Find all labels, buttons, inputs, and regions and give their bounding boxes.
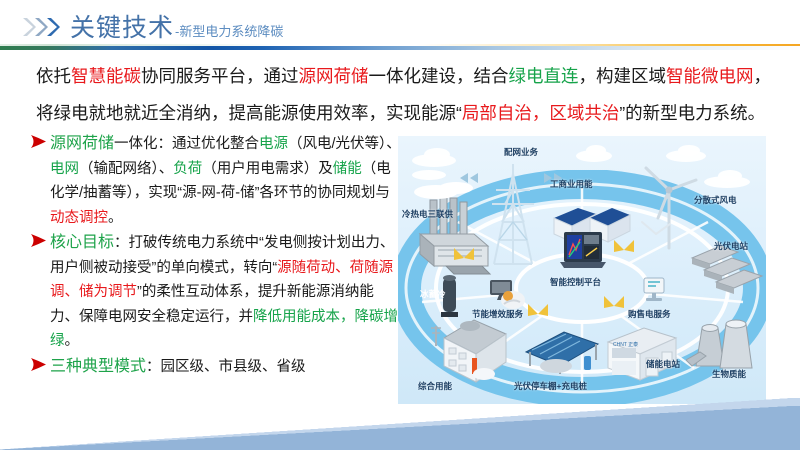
intro-paragraph: 依托智慧能碳协同服务平台，通过源网荷储一体化建设，结合绿电直连，构建区域智能微电… [36, 58, 776, 132]
bullet-heading: 源网荷储 [50, 135, 114, 152]
label-cchp-trigeneration: 冷热电三联供 [402, 208, 453, 220]
text-segment: 协同服务平台，通过 [141, 66, 299, 86]
text-segment: 一体化建设，结合 [369, 66, 509, 86]
label-energy-storage-station: 储能电站 [646, 358, 680, 370]
list-item: 三种典型模式：园区级、市县级、省级 [30, 355, 402, 380]
text-segment: 依托 [36, 66, 71, 86]
bullet-heading: 核心目标 [50, 234, 114, 251]
text-segment: ”的新型电力系统。 [619, 103, 765, 123]
text-segment: 。 [65, 333, 80, 349]
red-arrow-icon [30, 357, 47, 372]
text-segment: ，构建区域 [579, 66, 667, 86]
wireless-signal-icon [612, 236, 636, 256]
smart-control-platform-icon [558, 230, 608, 274]
intro-line-1: 依托智慧能碳协同服务平台，通过源网荷储一体化建设，结合绿电直连，构建区域智能微电… [36, 58, 776, 95]
page-title: 关键技术 [70, 8, 174, 44]
text-segment: 源网荷储 [299, 66, 369, 86]
text-segment: ， [754, 66, 772, 86]
wireless-signal-icon [452, 244, 476, 264]
text-segment: 负荷 [173, 161, 202, 177]
text-segment: 一体化：通过优化整合 [114, 136, 259, 152]
red-arrow-icon [30, 134, 47, 149]
text-segment: ：园区级、市县级、省级 [146, 359, 306, 375]
text-segment: 智慧能碳 [71, 66, 141, 86]
list-item: 核心目标：打破传统电力系统中“发电侧按计划出力、用户侧被动接受”的单向模式，转向… [30, 231, 402, 354]
text-segment: 电源 [259, 136, 288, 152]
energy-storage-station-icon: CHNT 正泰 [604, 324, 680, 382]
label-distributed-wind-power: 分散式风电 [694, 194, 737, 206]
wireless-signal-icon [602, 292, 626, 312]
label-integrated-energy-use: 综合用能 [418, 380, 452, 392]
footer-decoration [0, 398, 800, 450]
text-segment: 局部自治，区域共治 [462, 103, 620, 123]
label-pv-power-station: 光伏电站 [714, 240, 748, 252]
text-segment: 绿电直连 [509, 66, 579, 86]
cloud-icon [586, 145, 606, 156]
intro-line-2: 将绿电就地就近全消纳，提高能源使用效率，实现能源“局部自治，区域共治”的新型电力… [36, 95, 776, 132]
label-power-trading-service: 购售电服务 [628, 308, 671, 320]
list-item: 源网荷储一体化：通过优化整合电源（风电/光伏等）、电网（输配网络）、负荷（用户用… [30, 132, 402, 230]
label-pv-carport-charging-pile: 光伏停车棚+充电桩 [514, 380, 587, 392]
text-segment: （输配网络）、 [79, 161, 173, 177]
label-biomass-energy: 生物质能 [712, 368, 746, 380]
key-points-list: 源网荷储一体化：通过优化整合电源（风电/光伏等）、电网（输配网络）、负荷（用户用… [30, 132, 402, 380]
slide-header: 关键技术 -新型电力系统降碳 [0, 0, 800, 52]
biomass-energy-icon [686, 312, 758, 376]
wireless-signal-icon [526, 300, 550, 320]
red-arrow-icon [30, 233, 47, 248]
label-distribution-network-business: 配网业务 [504, 146, 538, 158]
text-segment: （用户用电需求）及 [202, 161, 333, 177]
double-chevron-right-icon [22, 17, 58, 37]
cloud-icon [678, 145, 700, 156]
integrated-energy-system-illustration: CHNT 正泰 配网业务 工商业用能 分散式风电 冷热电三联供 [398, 136, 766, 404]
pv-carport-icon [522, 322, 602, 378]
svg-text:CHNT 正泰: CHNT 正泰 [613, 341, 638, 348]
cloud-icon [424, 148, 450, 161]
bullet-heading: 三种典型模式 [50, 358, 146, 375]
text-segment: 智能微电网 [666, 66, 754, 86]
label-energy-saving-service: 节能增效服务 [472, 308, 523, 320]
header-divider [0, 44, 800, 52]
text-segment: 储能 [333, 161, 362, 177]
text-segment: 将绿电就地就近全消纳，提高能源使用效率，实现能源“ [36, 103, 462, 123]
text-segment: 电网 [50, 161, 79, 177]
label-ice-storage-cooling: 冰蓄冷 [420, 288, 446, 300]
label-industrial-commercial-energy-use: 工商业用能 [550, 178, 593, 190]
footer-wedge-dark [0, 406, 800, 450]
text-segment: 。 [108, 210, 123, 226]
page-subtitle: -新型电力系统降碳 [175, 21, 283, 40]
text-segment: 动态调控 [50, 210, 108, 226]
integrated-energy-house-icon [430, 312, 516, 384]
text-segment: （风电/光伏等）、 [288, 136, 401, 152]
label-smart-control-platform: 智能控制平台 [550, 276, 601, 288]
slide-root: 关键技术 -新型电力系统降碳 依托智慧能碳协同服务平台，通过源网荷储一体化建设，… [0, 0, 800, 450]
